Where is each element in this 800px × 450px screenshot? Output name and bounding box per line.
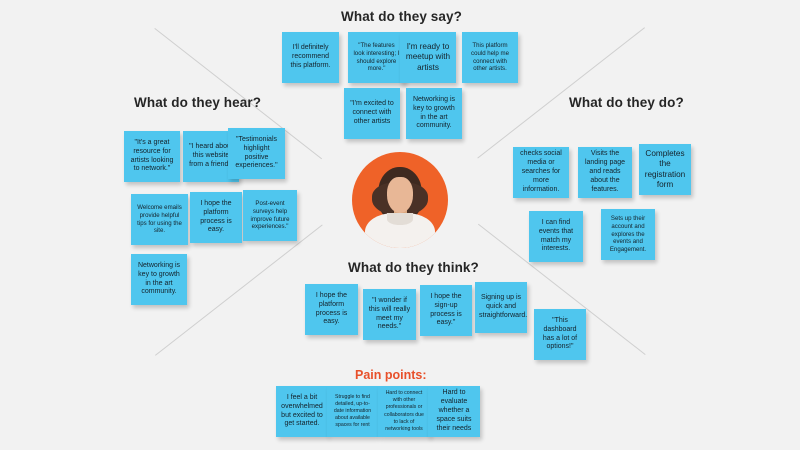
note-text: This platform could help me connect with…	[466, 42, 514, 74]
note-pain-3[interactable]: Hard to evaluate whether a space suits t…	[428, 386, 480, 437]
note-text: Sets up their account and explores the e…	[605, 215, 651, 255]
note-text: "I wonder if this will really meet my ne…	[367, 297, 412, 333]
section-title-pain-points: Pain points:	[355, 368, 427, 382]
persona-avatar	[352, 152, 448, 248]
section-title-do: What do they do?	[569, 95, 684, 110]
section-title-think: What do they think?	[348, 260, 479, 275]
note-say-1[interactable]: "The features look interesting; I should…	[348, 32, 405, 83]
note-text: Networking is key to growth in the art c…	[410, 96, 458, 132]
note-text: Hard to connect with other professionals…	[382, 390, 426, 432]
note-do-3[interactable]: I can find events that match my interest…	[529, 211, 583, 262]
note-think-1[interactable]: "I wonder if this will really meet my ne…	[363, 289, 416, 340]
note-text: "I'm excited to connect with other artis…	[348, 100, 396, 127]
note-text: checks social media or searches for more…	[517, 150, 565, 195]
note-hear-5[interactable]: Post-event surveys help improve future e…	[243, 190, 297, 241]
note-text: Networking is key to growth in the art c…	[135, 262, 183, 298]
section-title-hear: What do they hear?	[134, 95, 261, 110]
note-think-0[interactable]: I hope the platform process is easy.	[305, 284, 358, 335]
note-think-3[interactable]: Signing up is quick and straightforward.…	[475, 282, 527, 333]
note-text: Post-event surveys help improve future e…	[247, 200, 293, 232]
note-text: I feel a bit overwhelmed but excited to …	[280, 394, 324, 430]
note-pain-2[interactable]: Hard to connect with other professionals…	[378, 386, 430, 437]
note-text: I hope the sign-up process is easy."	[424, 293, 468, 329]
note-pain-1[interactable]: Struggle to find detailed, up-to-date in…	[327, 386, 378, 437]
note-hear-3[interactable]: Welcome emails provide helpful tips for …	[131, 194, 188, 245]
note-do-2[interactable]: Completes the registration form	[639, 144, 691, 195]
note-text: Welcome emails provide helpful tips for …	[135, 204, 184, 236]
note-text: Visits the landing page and reads about …	[582, 150, 628, 195]
note-hear-4[interactable]: I hope the platform process is easy.	[190, 192, 242, 243]
note-say-2[interactable]: I'm ready to meetup with artists	[400, 32, 456, 83]
note-say-5[interactable]: Networking is key to growth in the art c…	[406, 88, 462, 139]
note-think-2[interactable]: I hope the sign-up process is easy."	[420, 285, 472, 336]
note-say-3[interactable]: This platform could help me connect with…	[462, 32, 518, 83]
note-say-4[interactable]: "I'm excited to connect with other artis…	[344, 88, 400, 139]
note-think-4[interactable]: "This dashboard has a lot of options!"	[534, 309, 586, 360]
note-hear-0[interactable]: "It's a great resource for artists looki…	[124, 131, 180, 182]
note-say-0[interactable]: I'll definitely recommend this platform.	[282, 32, 339, 83]
note-text: Signing up is quick and straightforward.…	[479, 294, 523, 321]
note-do-1[interactable]: Visits the landing page and reads about …	[578, 147, 632, 198]
empathy-map-canvas: What do they say? I'll definitely recomm…	[0, 0, 800, 450]
note-text: Hard to evaluate whether a space suits t…	[432, 389, 476, 434]
note-text: "The features look interesting; I should…	[352, 42, 401, 74]
note-hear-2[interactable]: "Testimonials highlight positive experie…	[228, 128, 285, 179]
note-text: I hope the platform process is easy.	[194, 200, 238, 236]
note-do-0[interactable]: checks social media or searches for more…	[513, 147, 569, 198]
note-text: I'm ready to meetup with artists	[404, 42, 452, 73]
note-text: I'll definitely recommend this platform.	[286, 44, 335, 71]
note-text: I can find events that match my interest…	[533, 219, 579, 255]
note-pain-0[interactable]: I feel a bit overwhelmed but excited to …	[276, 386, 328, 437]
avatar-collar	[387, 213, 414, 225]
section-title-say: What do they say?	[341, 9, 462, 24]
note-do-4[interactable]: Sets up their account and explores the e…	[601, 209, 655, 260]
note-text: I hope the platform process is easy.	[309, 292, 354, 328]
note-text: Struggle to find detailed, up-to-date in…	[331, 394, 374, 429]
note-hear-6[interactable]: Networking is key to growth in the art c…	[131, 254, 187, 305]
note-text: Completes the registration form	[643, 149, 687, 190]
note-text: "Testimonials highlight positive experie…	[232, 136, 281, 172]
note-text: "It's a great resource for artists looki…	[128, 139, 176, 175]
note-text: "This dashboard has a lot of options!"	[538, 317, 582, 353]
